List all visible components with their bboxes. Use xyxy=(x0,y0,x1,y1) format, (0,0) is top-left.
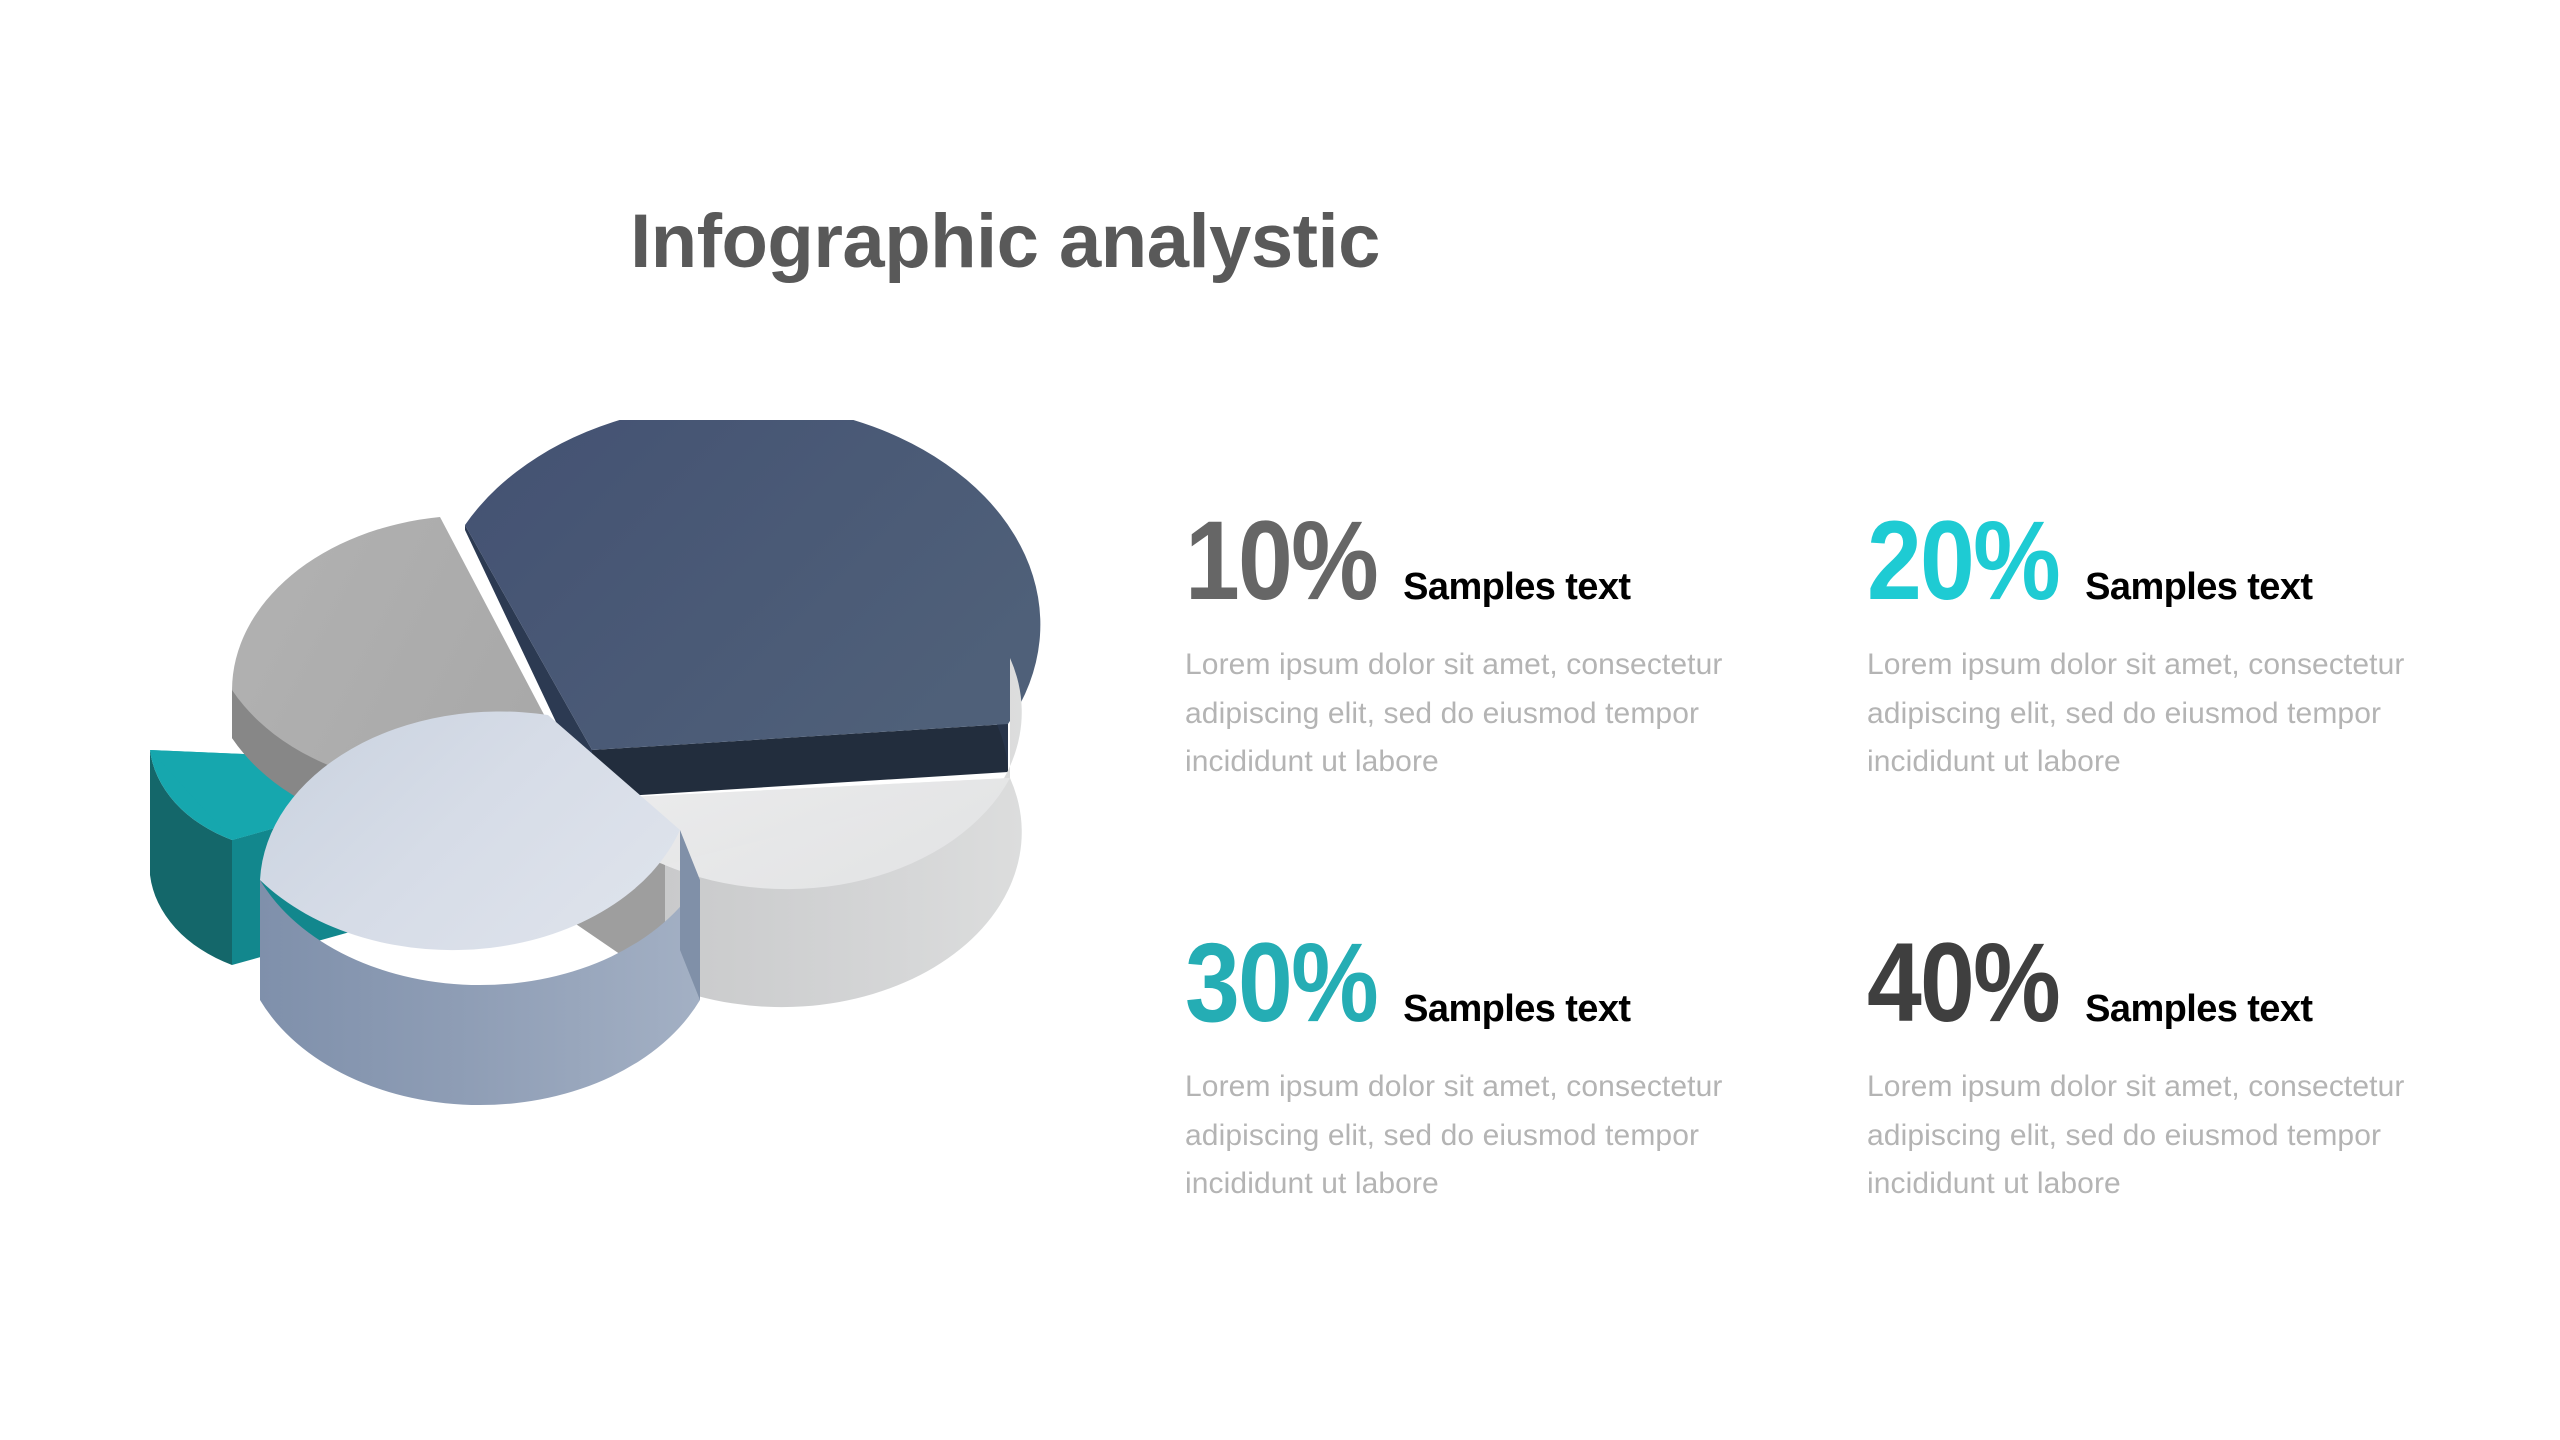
stat-description: Lorem ipsum dolor sit amet, consectetur … xyxy=(1185,1063,1725,1209)
stat-block-10: 10% Samples text Lorem ipsum dolor sit a… xyxy=(1185,505,1785,787)
stat-block-30: 30% Samples text Lorem ipsum dolor sit a… xyxy=(1185,927,1785,1209)
stat-description: Lorem ipsum dolor sit amet, consectetur … xyxy=(1867,1063,2407,1209)
stat-heading: 20% Samples text xyxy=(1867,505,2467,615)
stat-percent: 20% xyxy=(1867,505,2059,617)
stats-grid: 10% Samples text Lorem ipsum dolor sit a… xyxy=(1185,505,2515,1205)
stat-label: Samples text xyxy=(1403,990,1630,1028)
stat-label: Samples text xyxy=(2085,990,2312,1028)
slide-canvas: Infographic analystic xyxy=(0,0,2560,1440)
pie-chart-svg xyxy=(140,420,1060,1220)
stat-description: Lorem ipsum dolor sit amet, consectetur … xyxy=(1867,641,2407,787)
stat-heading: 10% Samples text xyxy=(1185,505,1785,615)
page-title: Infographic analystic xyxy=(0,200,2285,284)
stat-heading: 30% Samples text xyxy=(1185,927,1785,1037)
stat-block-40: 40% Samples text Lorem ipsum dolor sit a… xyxy=(1867,927,2467,1209)
stat-label: Samples text xyxy=(1403,568,1630,606)
stat-percent: 10% xyxy=(1185,505,1377,617)
stat-label: Samples text xyxy=(2085,568,2312,606)
stat-description: Lorem ipsum dolor sit amet, consectetur … xyxy=(1185,641,1725,787)
stat-heading: 40% Samples text xyxy=(1867,927,2467,1037)
stat-block-20: 20% Samples text Lorem ipsum dolor sit a… xyxy=(1867,505,2467,787)
pie-chart-3d xyxy=(140,420,1060,1220)
stat-percent: 40% xyxy=(1867,927,2059,1039)
stat-percent: 30% xyxy=(1185,927,1377,1039)
